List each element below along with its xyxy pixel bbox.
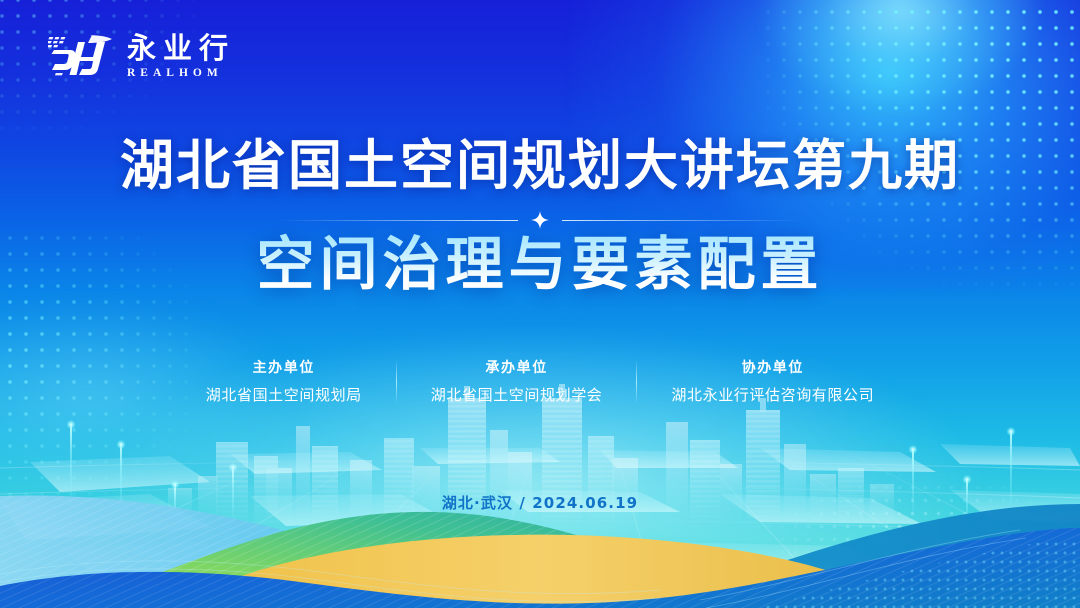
brand-logo[interactable]: 永业行 REALHOM [48, 33, 235, 79]
event-banner: 永业行 REALHOM 湖北省国土空间规划大讲坛第九期 空间治理与要素配置 主办… [0, 0, 1080, 608]
page-title: 湖北省国土空间规划大讲坛第九期 [0, 136, 1080, 196]
brand-name-cn: 永业行 [127, 33, 235, 63]
yh-monogram-icon [48, 33, 114, 79]
organizer-host: 主办单位 湖北省国土空间规划局 [172, 358, 396, 406]
brand-text: 永业行 REALHOM [127, 33, 235, 78]
organizer-label: 承办单位 [431, 358, 603, 379]
four-point-star-icon [531, 211, 549, 229]
organizer-cohost: 协办单位 湖北永业行评估咨询有限公司 [637, 358, 908, 406]
organizer-name: 湖北省国土空间规划局 [206, 385, 362, 406]
title-divider [280, 213, 800, 227]
organizer-label: 主办单位 [206, 358, 362, 379]
brand-name-en: REALHOM [127, 67, 235, 79]
organizer-organizer: 承办单位 湖北省国土空间规划学会 [397, 358, 637, 406]
venue-date: 湖北·武汉 / 2024.06.19 [0, 492, 1080, 513]
organizer-label: 协办单位 [671, 358, 874, 379]
divider-line-right [562, 220, 800, 221]
organizer-name: 湖北省国土空间规划学会 [431, 385, 603, 406]
divider-line-left [280, 220, 518, 221]
organizer-name: 湖北永业行评估咨询有限公司 [671, 385, 874, 406]
page-subtitle: 空间治理与要素配置 [0, 230, 1080, 300]
organizer-list: 主办单位 湖北省国土空间规划局 承办单位 湖北省国土空间规划学会 协办单位 湖北… [0, 358, 1080, 406]
